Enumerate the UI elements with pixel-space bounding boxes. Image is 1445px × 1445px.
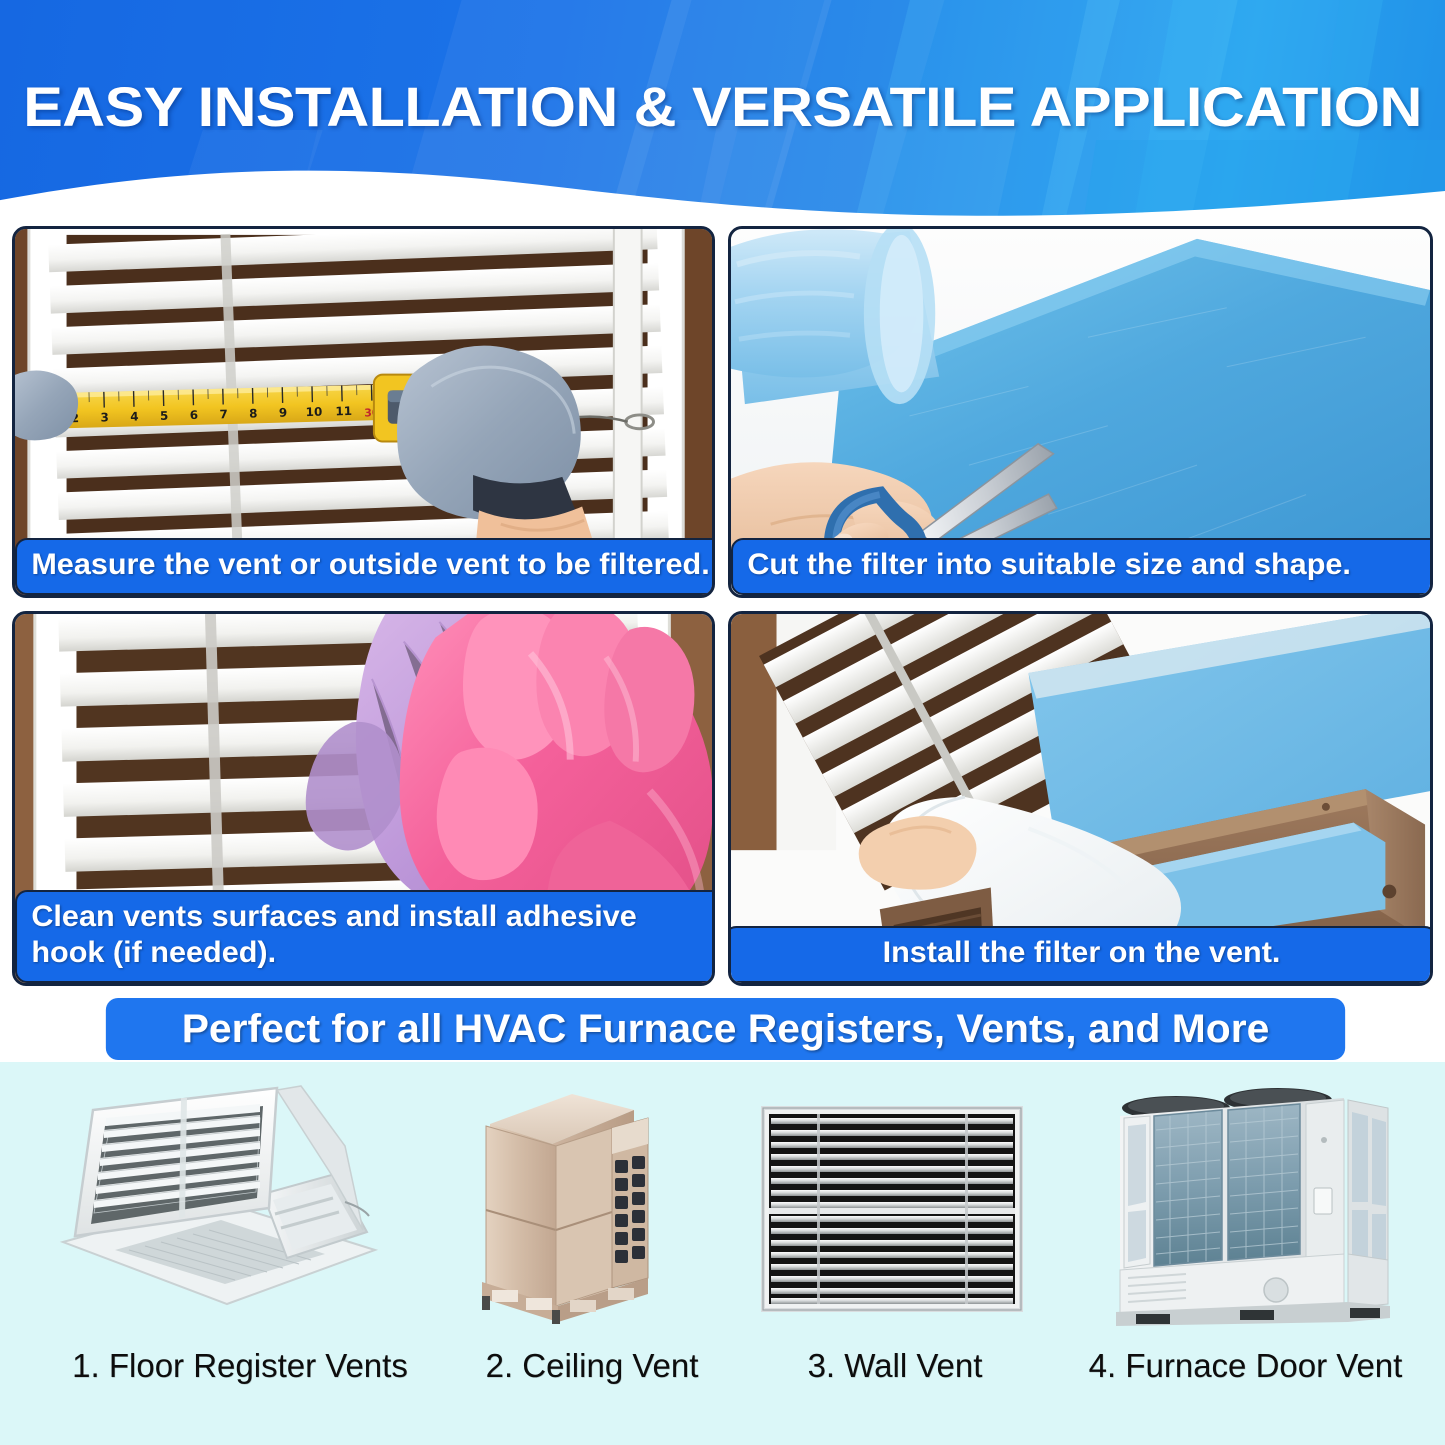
product-label-4: 4. Furnace Door Vent xyxy=(1089,1347,1403,1385)
product-applications-band: 1. Floor Register Vents xyxy=(0,1062,1445,1445)
svg-text:8: 8 xyxy=(249,406,258,420)
header-banner: EASY INSTALLATION & VERSATILE APPLICATIO… xyxy=(0,0,1445,222)
step-caption-3: Clean vents surfaces and install adhesiv… xyxy=(15,890,715,983)
step-card-3: Clean vents surfaces and install adhesiv… xyxy=(12,611,715,986)
svg-text:3: 3 xyxy=(100,410,109,424)
svg-text:5: 5 xyxy=(160,409,169,423)
wall-vent-grille-image xyxy=(755,1082,1035,1337)
product-item-furnace-door-vent: 4. Furnace Door Vent xyxy=(1058,1082,1433,1385)
product-label-2: 2. Ceiling Vent xyxy=(486,1347,699,1385)
step-card-2: Cut the filter into suitable size and sh… xyxy=(728,226,1433,598)
floor-register-vent-image xyxy=(45,1082,435,1337)
svg-text:9: 9 xyxy=(279,406,288,420)
svg-text:7: 7 xyxy=(219,407,228,421)
furnace-door-vent-unit-image xyxy=(1058,1082,1433,1337)
svg-text:11: 11 xyxy=(335,404,352,418)
header-wave-divider xyxy=(0,150,1445,222)
svg-text:6: 6 xyxy=(190,408,199,422)
product-item-wall-vent: 3. Wall Vent xyxy=(755,1082,1035,1385)
step-caption-1: Measure the vent or outside vent to be f… xyxy=(15,538,715,595)
application-banner: Perfect for all HVAC Furnace Registers, … xyxy=(106,998,1345,1060)
svg-text:10: 10 xyxy=(306,405,323,419)
svg-text:4: 4 xyxy=(130,410,139,424)
step-caption-2: Cut the filter into suitable size and sh… xyxy=(731,538,1433,595)
product-item-floor-register-vent: 1. Floor Register Vents xyxy=(45,1082,435,1385)
page-title: EASY INSTALLATION & VERSATILE APPLICATIO… xyxy=(0,74,1445,139)
step-card-1: 123 456 789 1011 30 xyxy=(12,226,715,598)
product-label-3: 3. Wall Vent xyxy=(808,1347,983,1385)
product-label-1: 1. Floor Register Vents xyxy=(72,1347,408,1385)
installation-steps-grid: 123 456 789 1011 30 xyxy=(12,226,1433,986)
step-card-4: Install the filter on the vent. xyxy=(728,611,1433,986)
ceiling-vent-unit-image xyxy=(452,1082,732,1337)
product-item-ceiling-vent: 2. Ceiling Vent xyxy=(452,1082,732,1385)
step-caption-4: Install the filter on the vent. xyxy=(728,926,1433,983)
